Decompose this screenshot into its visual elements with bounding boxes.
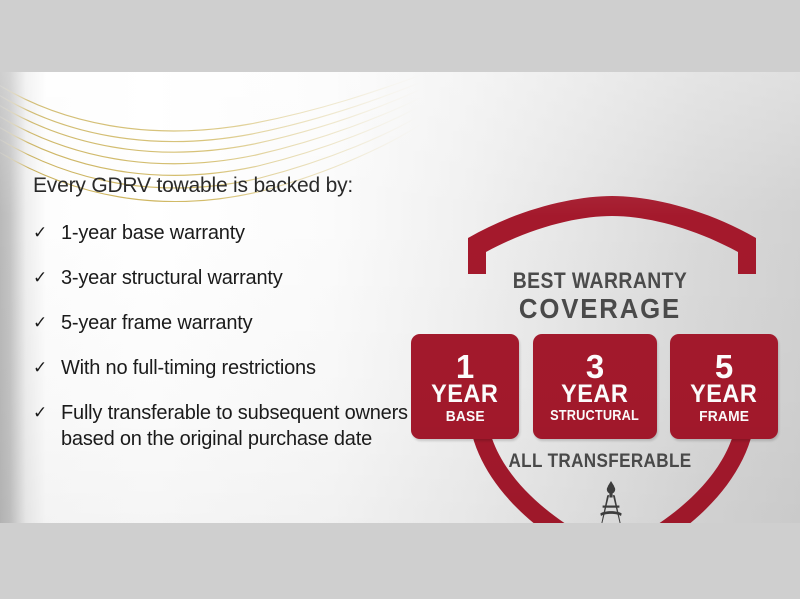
card-unit: YEAR <box>690 382 757 407</box>
list-item: ✓ Fully transferable to subsequent owner… <box>33 400 438 452</box>
warranty-bullet-list: ✓ 1-year base warranty ✓ 3-year structur… <box>33 220 438 452</box>
card-unit: YEAR <box>561 382 628 407</box>
warranty-card-group: 1 YEAR BASE 3 YEAR STRUCTURAL 5 YEAR FRA… <box>411 334 791 439</box>
badge-headline-line1: BEST WARRANTY <box>424 268 776 294</box>
badge-headline-line2: COVERAGE <box>416 293 784 325</box>
check-icon: ✓ <box>33 355 57 380</box>
slide-artwork: Every GDRV towable is backed by: ✓ 1-yea… <box>0 72 800 523</box>
bullet-text: With no full-timing restrictions <box>61 355 316 381</box>
warranty-card-frame[interactable]: 5 YEAR FRAME <box>670 334 778 439</box>
list-item: ✓ With no full-timing restrictions <box>33 355 438 381</box>
list-item: ✓ 5-year frame warranty <box>33 310 438 336</box>
bullet-text: 5-year frame warranty <box>61 310 252 336</box>
check-icon: ✓ <box>33 220 57 245</box>
card-unit: YEAR <box>431 382 498 407</box>
check-icon: ✓ <box>33 310 57 335</box>
card-number: 3 <box>586 351 604 382</box>
slide-stage: Every GDRV towable is backed by: ✓ 1-yea… <box>0 0 800 599</box>
card-number: 5 <box>715 351 733 382</box>
lead-text: Every GDRV towable is backed by: <box>33 174 438 198</box>
list-item: ✓ 1-year base warranty <box>33 220 438 246</box>
check-icon: ✓ <box>33 400 57 425</box>
list-item: ✓ 3-year structural warranty <box>33 265 438 291</box>
warranty-badge: BEST WARRANTY COVERAGE 1 YEAR BASE 3 YEA… <box>400 152 800 523</box>
check-icon: ✓ <box>33 265 57 290</box>
warranty-copy-block: Every GDRV towable is backed by: ✓ 1-yea… <box>33 174 438 452</box>
warranty-card-base[interactable]: 1 YEAR BASE <box>411 334 519 439</box>
badge-footer-text: ALL TRANSFERABLE <box>420 451 780 473</box>
card-label: FRAME <box>699 408 749 425</box>
warranty-card-structural[interactable]: 3 YEAR STRUCTURAL <box>533 334 657 439</box>
card-number: 1 <box>456 351 474 382</box>
bullet-text: 1-year base warranty <box>61 220 245 246</box>
bullet-text: Fully transferable to subsequent owners … <box>61 400 438 452</box>
compass-divider-icon <box>578 480 644 523</box>
bullet-text: 3-year structural warranty <box>61 265 283 291</box>
card-label: STRUCTURAL <box>551 408 640 425</box>
card-label: BASE <box>445 408 484 425</box>
